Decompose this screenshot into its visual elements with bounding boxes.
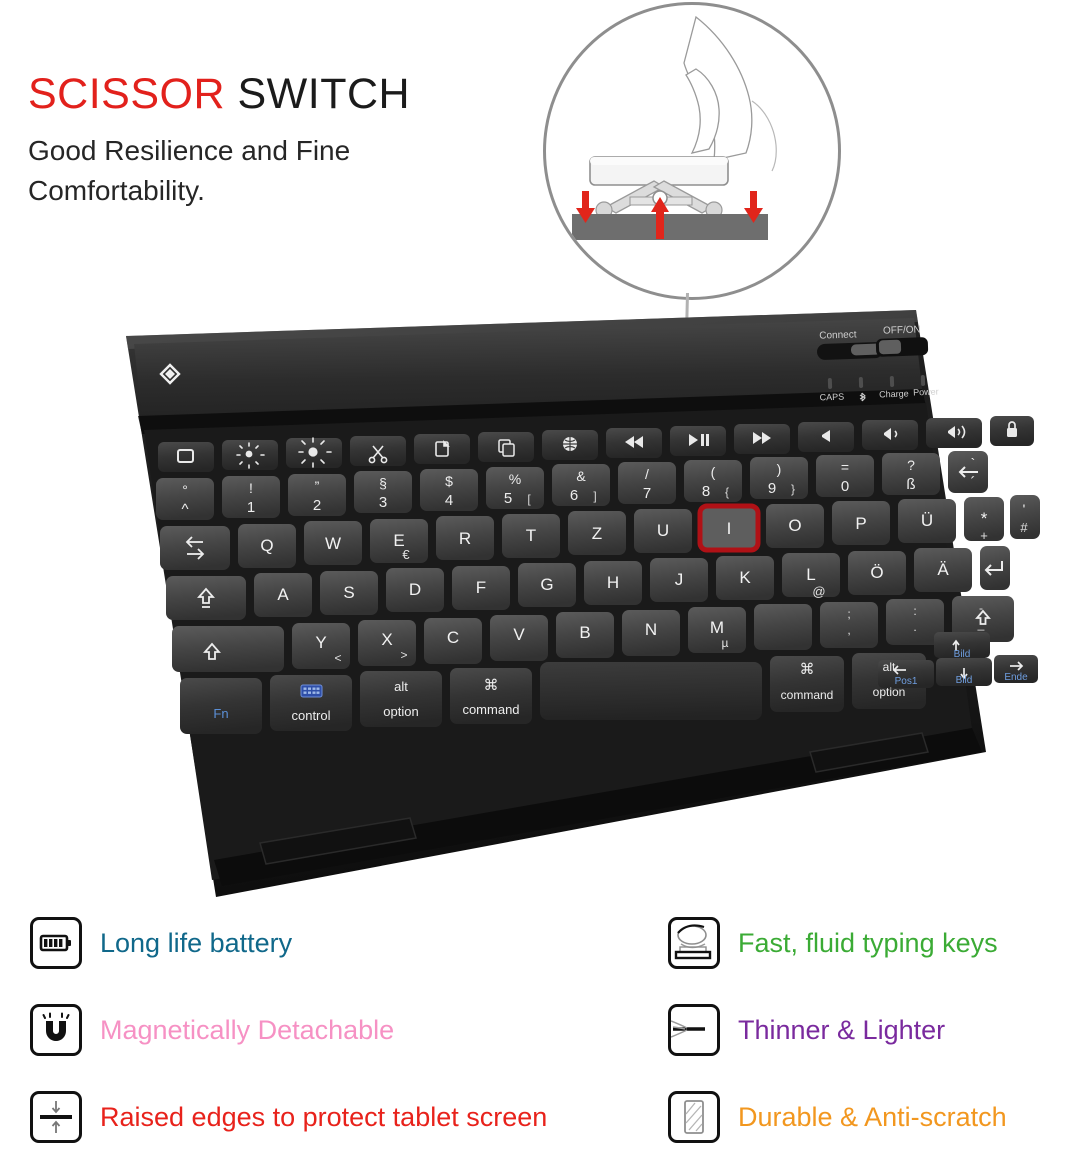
page-subtitle: Good Resilience and Fine Comfortability. (28, 131, 508, 211)
feature-label: Long life battery (100, 930, 292, 957)
power-switch (876, 337, 929, 357)
svg-text:command: command (462, 702, 519, 717)
svg-text:option: option (873, 685, 906, 699)
thin-profile-icon (668, 1004, 720, 1056)
svg-text:Ä: Ä (937, 560, 949, 579)
svg-text:`: ` (971, 455, 976, 471)
svg-text:P: P (855, 514, 866, 533)
svg-text:6: 6 (570, 487, 578, 504)
svg-text:$: $ (445, 473, 453, 489)
feature-label: Magnetically Detachable (100, 1017, 394, 1044)
svg-text:J: J (675, 570, 684, 589)
feature-long-life-battery: Long life battery (30, 917, 292, 969)
svg-text:⌘: ⌘ (484, 677, 499, 694)
raised-edges-icon (30, 1091, 82, 1143)
svg-text:B: B (579, 623, 590, 642)
svg-text:.: . (913, 620, 916, 634)
svg-text:R: R (459, 529, 471, 548)
svg-text:&: & (576, 468, 586, 484)
svg-text:?: ? (907, 457, 915, 473)
svg-text:}: } (791, 482, 795, 496)
svg-text:F: F (476, 578, 486, 597)
svg-text:H: H (607, 573, 619, 592)
feature-label: Raised edges to protect tablet screen (100, 1104, 547, 1131)
svg-text:Q: Q (260, 536, 273, 555)
feature-list: Long life battery Magnetically Detachabl… (0, 905, 1080, 1151)
feature-label: Fast, fluid typing keys (738, 930, 998, 957)
svg-text:G: G (540, 575, 553, 594)
svg-text:%: % (509, 471, 521, 487)
feature-magnetically-detachable: Magnetically Detachable (30, 1004, 394, 1056)
svg-text:': ' (1023, 501, 1026, 517)
keyboard-illustration: °!” §$% &/( )=? ` ^12 345 678 90ß ´ [] {… (110, 300, 1050, 900)
svg-text:0: 0 (841, 478, 849, 495)
svg-text:V: V (513, 625, 525, 644)
svg-text:@: @ (812, 584, 825, 599)
svg-text:2: 2 (313, 497, 321, 514)
svg-text:Charge: Charge (879, 388, 909, 399)
svg-text:T: T (526, 526, 536, 545)
feature-durable-anti-scratch: Durable & Anti-scratch (668, 1091, 1007, 1143)
svg-text:4: 4 (445, 492, 453, 509)
typing-key-icon (668, 917, 720, 969)
feature-thinner-lighter: Thinner & Lighter (668, 1004, 945, 1056)
svg-text:(: ( (711, 464, 716, 480)
connect-switch (817, 342, 884, 360)
svg-text:,: , (847, 623, 850, 637)
svg-text:5: 5 (504, 490, 512, 507)
svg-text:/: / (645, 466, 649, 482)
headline-block: SCISSOR SWITCH Good Resilience and Fine … (28, 72, 508, 211)
svg-text:!: ! (249, 480, 253, 496)
svg-text:alt: alt (883, 660, 896, 674)
svg-text:ß: ß (906, 476, 915, 493)
svg-text:option: option (383, 704, 418, 719)
svg-text:<: < (334, 651, 341, 665)
svg-text:A: A (277, 585, 289, 604)
feature-fast-fluid-typing-keys: Fast, fluid typing keys (668, 917, 998, 969)
trackpad (540, 662, 762, 720)
svg-text:Fn: Fn (213, 706, 228, 721)
svg-text:Bild: Bild (954, 649, 971, 660)
scissor-switch-callout (543, 2, 841, 300)
svg-text:Ende: Ende (1004, 672, 1028, 683)
svg-text:;: ; (847, 607, 850, 621)
svg-text:OFF/ON: OFF/ON (883, 324, 921, 336)
svg-text:Ü: Ü (921, 511, 933, 530)
magnet-icon (30, 1004, 82, 1056)
svg-text:CAPS: CAPS (819, 392, 844, 403)
svg-text:D: D (409, 580, 421, 599)
svg-text:Pos1: Pos1 (895, 676, 918, 687)
svg-text:7: 7 (643, 485, 651, 502)
svg-text:M: M (710, 618, 724, 637)
svg-text:S: S (343, 583, 354, 602)
svg-text:control: control (291, 708, 330, 723)
svg-text:Bild: Bild (956, 675, 973, 686)
svg-text:*: * (981, 509, 988, 528)
svg-text:´: ´ (971, 474, 976, 491)
page-title: SCISSOR SWITCH (28, 72, 508, 117)
anti-scratch-icon (668, 1091, 720, 1143)
svg-text:C: C (447, 628, 459, 647)
svg-text:+: + (980, 528, 988, 543)
svg-text:^: ^ (181, 501, 188, 518)
svg-text:>: > (400, 648, 407, 662)
svg-text:]: ] (593, 489, 596, 503)
svg-text:§: § (379, 475, 387, 491)
svg-text:=: = (841, 459, 849, 475)
svg-text:Power: Power (913, 387, 939, 398)
svg-text:X: X (381, 630, 392, 649)
svg-text:L: L (806, 565, 815, 584)
svg-text:command: command (781, 688, 834, 702)
feature-label: Thinner & Lighter (738, 1017, 945, 1044)
feature-label: Durable & Anti-scratch (738, 1104, 1007, 1131)
svg-text:µ: µ (722, 636, 729, 650)
svg-text:”: ” (315, 478, 320, 494)
svg-text:alt: alt (394, 679, 408, 694)
keyboard-product-photo: °!” §$% &/( )=? ` ^12 345 678 90ß ´ [] {… (110, 300, 1050, 900)
svg-text:N: N (645, 620, 657, 639)
svg-text:Ö: Ö (870, 563, 883, 582)
svg-text:⌘: ⌘ (800, 661, 815, 678)
svg-text:Z: Z (592, 524, 602, 543)
svg-text:W: W (325, 534, 341, 553)
svg-text:#: # (1020, 520, 1028, 535)
title-rest-word: SWITCH (225, 70, 410, 118)
scissor-switch-cross-section-icon (546, 5, 838, 297)
svg-text:{: { (725, 485, 729, 499)
svg-text:Connect: Connect (819, 329, 857, 341)
svg-text:): ) (777, 461, 782, 477)
svg-text:8: 8 (702, 483, 710, 500)
svg-text:I: I (727, 519, 732, 538)
feature-raised-edges: Raised edges to protect tablet screen (30, 1091, 547, 1143)
svg-text:€: € (402, 547, 410, 562)
svg-text:°: ° (182, 482, 188, 498)
svg-text::: : (913, 604, 916, 618)
svg-text:3: 3 (379, 494, 387, 511)
title-accent-word: SCISSOR (28, 70, 225, 118)
svg-text:U: U (657, 521, 669, 540)
svg-text:O: O (788, 516, 801, 535)
battery-icon (30, 917, 82, 969)
svg-text:K: K (739, 568, 751, 587)
svg-text:9: 9 (768, 480, 776, 497)
svg-text:Y: Y (315, 633, 326, 652)
svg-text:1: 1 (247, 499, 255, 516)
